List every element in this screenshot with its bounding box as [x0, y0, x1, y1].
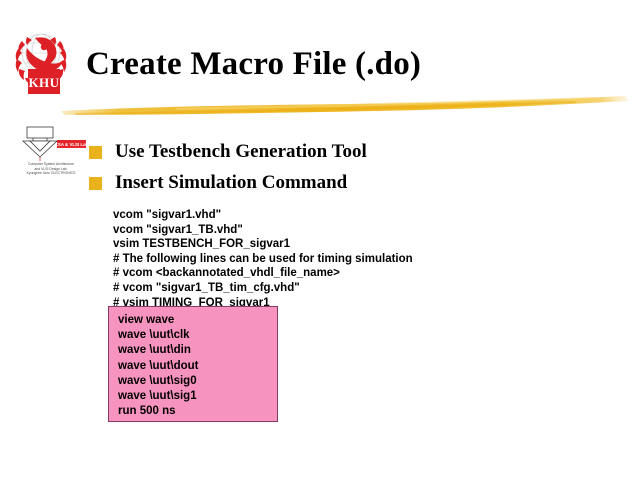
highlighted-code-line: view wave [118, 313, 199, 328]
page-title: Create Macro File (.do) [86, 46, 421, 83]
svg-text:KHU: KHU [28, 75, 59, 90]
presentation-slide: KHU Create Macro File (.do) [0, 0, 640, 480]
bullet-item-label: Use Testbench Generation Tool [115, 141, 367, 163]
highlighted-code-line: wave \uut\sig0 [118, 374, 199, 389]
macro-script-code-block: vcom "sigvar1.vhd" vcom "sigvar1_TB.vhd"… [113, 208, 413, 310]
bullet-item-label: Insert Simulation Command [115, 172, 347, 194]
bullet-item-simulation-command: Insert Simulation Command [89, 172, 347, 194]
lab-logo-badge-text: CSA & VLSI Lab [55, 142, 89, 147]
gold-brush-divider [55, 92, 630, 118]
code-line: # vcom "sigvar1_TB_tim_cfg.vhd" [113, 281, 413, 296]
lab-caption-line-3: Kyunghee Univ. ELECTRONICS [13, 171, 89, 176]
highlighted-code-line: run 500 ns [118, 404, 199, 419]
code-line: vcom "sigvar1_TB.vhd" [113, 223, 413, 238]
code-line: # vcom <backannotated_vhdl_file_name> [113, 266, 413, 281]
highlighted-code-line: wave \uut\clk [118, 328, 199, 343]
bullet-square-icon [89, 146, 102, 159]
highlighted-code-lines: view wave wave \uut\clk wave \uut\din wa… [118, 313, 199, 419]
code-line: vsim TESTBENCH_FOR_sigvar1 [113, 237, 413, 252]
code-line: vcom "sigvar1.vhd" [113, 208, 413, 223]
code-line: # The following lines can be used for ti… [113, 252, 413, 267]
bullet-item-testbench-tool: Use Testbench Generation Tool [89, 141, 367, 163]
highlighted-code-line: wave \uut\sig1 [118, 389, 199, 404]
bullet-square-icon [89, 177, 102, 190]
khu-university-logo-icon: KHU [11, 27, 77, 95]
vlsi-lab-logo: CSA & VLSI Lab Computer System Architect… [13, 126, 89, 178]
highlighted-wave-commands-block: view wave wave \uut\clk wave \uut\din wa… [108, 306, 278, 422]
highlighted-code-line: wave \uut\din [118, 343, 199, 358]
highlighted-code-line: wave \uut\dout [118, 359, 199, 374]
